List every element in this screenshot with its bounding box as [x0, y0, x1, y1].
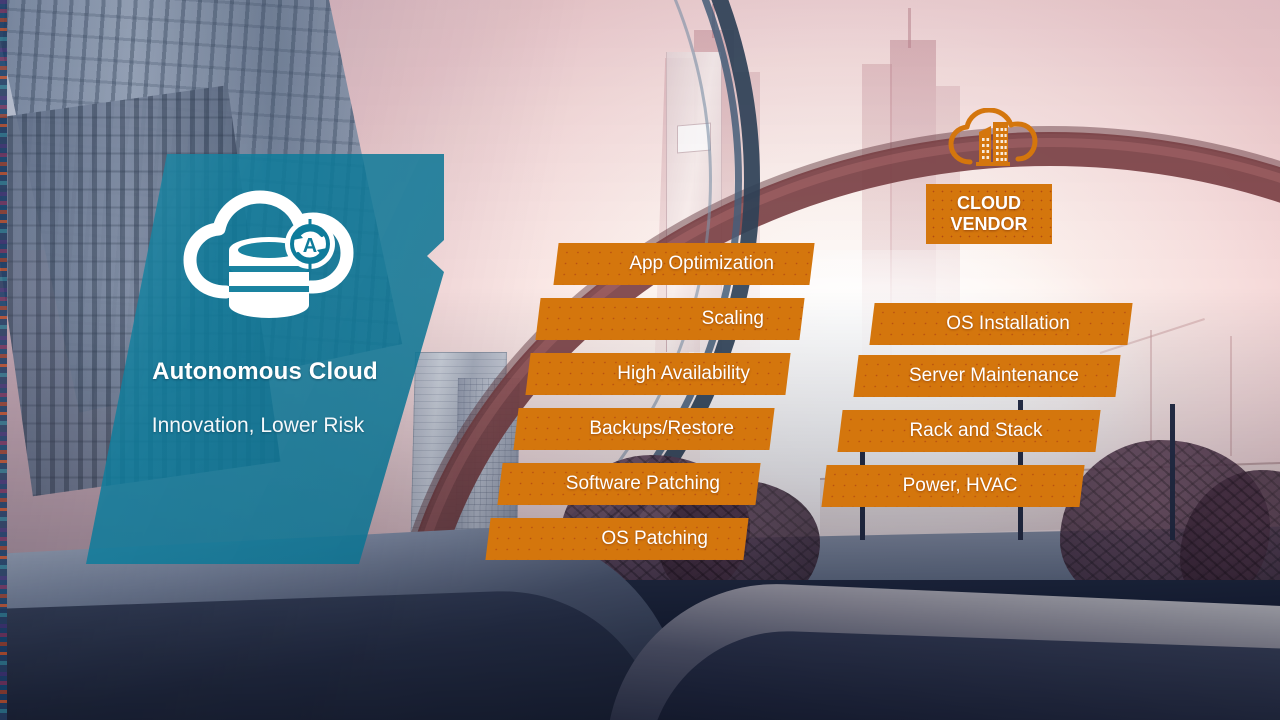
- cloud-vendor-label-line2: VENDOR: [950, 214, 1027, 235]
- panel-subtitle: Innovation, Lower Risk: [84, 414, 432, 438]
- task-bar: Power, HVAC: [821, 465, 1084, 507]
- slide-canvas: A Autonomous Cloud Innovation, Lower Ris…: [0, 0, 1280, 720]
- task-bar: Rack and Stack: [837, 410, 1100, 452]
- task-bar-label: Software Patching: [500, 473, 758, 495]
- svg-text:A: A: [303, 235, 317, 257]
- left-edge-artifact: [0, 0, 7, 720]
- task-bar-label: High Availability: [528, 363, 788, 385]
- task-bar: OS Patching: [485, 518, 748, 560]
- task-bar-label: Backups/Restore: [516, 418, 772, 440]
- task-bar: Server Maintenance: [853, 355, 1120, 397]
- task-bar-label: Scaling: [538, 308, 802, 330]
- panel-title: Autonomous Cloud: [84, 358, 446, 386]
- autonomous-cloud-database-icon: A: [180, 188, 358, 318]
- cloud-vendor-badge: CLOUD VENDOR: [926, 184, 1052, 244]
- task-bar: OS Installation: [869, 303, 1132, 345]
- task-bar: High Availability: [525, 353, 790, 395]
- task-bar-label: Rack and Stack: [840, 420, 1098, 442]
- cloud-datacenter-buildings-icon: [946, 108, 1038, 170]
- task-bar: App Optimization: [553, 243, 814, 285]
- task-bar-label: App Optimization: [556, 253, 812, 275]
- task-bar-label: Power, HVAC: [824, 475, 1082, 497]
- task-bar: Backups/Restore: [513, 408, 774, 450]
- cloud-vendor-label-line1: CLOUD: [957, 193, 1021, 214]
- task-bar-label: OS Patching: [488, 528, 746, 550]
- task-bar-label: Server Maintenance: [856, 365, 1118, 387]
- task-bar: Scaling: [535, 298, 804, 340]
- task-bar: Software Patching: [497, 463, 760, 505]
- task-bar-label: OS Installation: [872, 313, 1130, 335]
